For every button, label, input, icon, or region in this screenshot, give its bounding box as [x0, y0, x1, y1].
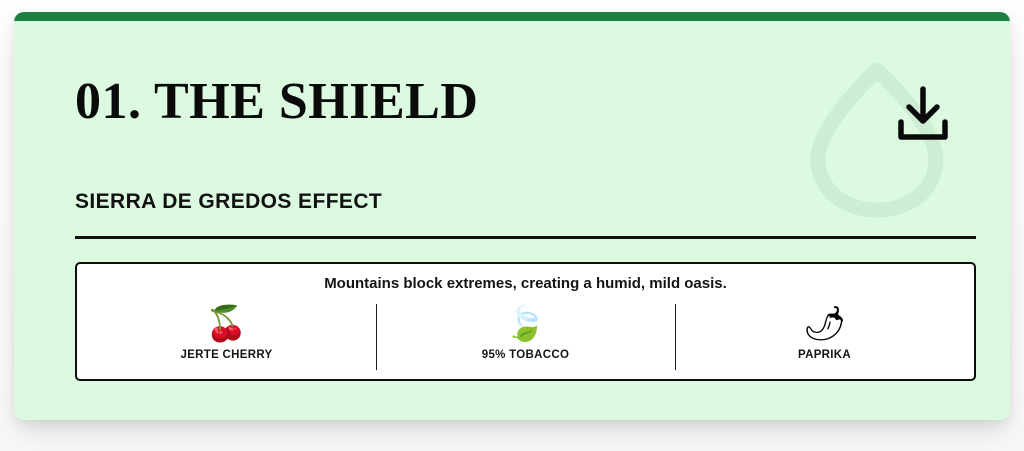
divider-rule	[75, 236, 976, 239]
leaf-icon: 🍃	[504, 304, 546, 344]
page-title: 01. THE SHIELD	[75, 76, 478, 128]
card-accent-bar	[14, 12, 1010, 21]
attribute-list: 🍒 JERTE CHERRY 🍃 95% TOBACCO 🌶 PAPRIKA	[77, 304, 974, 379]
panel-caption: Mountains block extremes, creating a hum…	[77, 275, 974, 292]
download-button[interactable]	[892, 83, 954, 145]
list-item: 🍃 95% TOBACCO	[376, 304, 675, 361]
hot-pepper-icon: 🌶	[803, 304, 846, 344]
list-item-label: JERTE CHERRY	[181, 349, 273, 361]
list-item: 🌶 PAPRIKA	[675, 304, 974, 361]
card-subtitle: SIERRA DE GREDOS EFFECT	[75, 190, 382, 214]
page-background: 01. THE SHIELD SIERRA DE GREDOS EFFECT M…	[0, 0, 1024, 451]
attributes-panel: Mountains block extremes, creating a hum…	[75, 262, 976, 381]
cherries-icon: 🍒	[205, 304, 247, 344]
list-item: 🍒 JERTE CHERRY	[77, 304, 376, 361]
list-item-label: PAPRIKA	[798, 349, 851, 361]
list-item-label: 95% TOBACCO	[482, 349, 569, 361]
shield-card: 01. THE SHIELD SIERRA DE GREDOS EFFECT M…	[14, 12, 1010, 420]
